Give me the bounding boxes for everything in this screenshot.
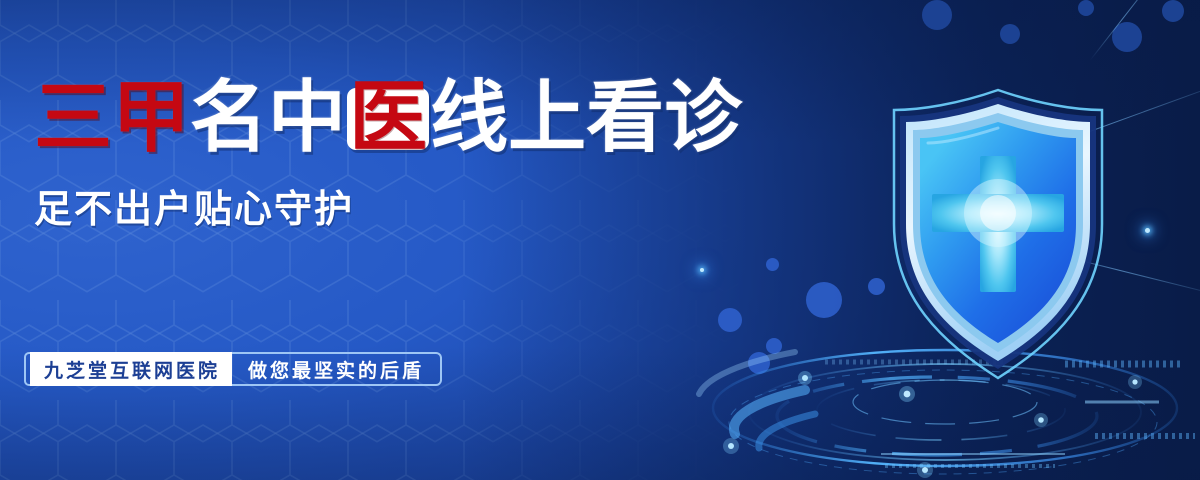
decor-circle bbox=[1162, 0, 1184, 22]
headline-char: 中 bbox=[268, 78, 346, 156]
tagline-bar: 九芝堂互联网医院 做您最坚实的后盾 bbox=[24, 352, 442, 386]
headline-char-highlighted: 医 bbox=[346, 78, 430, 156]
glow-point bbox=[1145, 228, 1150, 233]
headline-char: 甲 bbox=[112, 78, 190, 156]
glow-point bbox=[700, 268, 704, 272]
decor-circle bbox=[718, 308, 742, 332]
brand-label: 九芝堂互联网医院 bbox=[30, 352, 232, 386]
subheadline: 足不出户贴心守护 bbox=[34, 178, 734, 233]
medical-shield-icon bbox=[878, 84, 1118, 384]
decor-circle bbox=[766, 258, 779, 271]
headline: 三 甲 名 中 医 线 上 看 诊 bbox=[34, 78, 734, 156]
promo-banner: 三 甲 名 中 医 线 上 看 诊 足不出户贴心守护 九芝堂互联网医院 做您最坚… bbox=[0, 0, 1200, 480]
copy-block: 三 甲 名 中 医 线 上 看 诊 足不出户贴心守护 bbox=[34, 78, 734, 233]
decor-circle bbox=[922, 0, 952, 30]
headline-char: 线 bbox=[430, 78, 508, 156]
headline-char: 三 bbox=[34, 78, 112, 156]
decor-circle bbox=[1078, 0, 1094, 16]
decor-circle bbox=[1000, 24, 1020, 44]
headline-char: 看 bbox=[586, 78, 664, 156]
decor-circle bbox=[806, 282, 842, 318]
headline-char: 名 bbox=[190, 78, 268, 156]
slogan-label: 做您最坚实的后盾 bbox=[232, 352, 442, 386]
headline-char: 上 bbox=[508, 78, 586, 156]
headline-char-glyph: 医 bbox=[349, 73, 427, 161]
headline-char: 诊 bbox=[664, 78, 742, 156]
